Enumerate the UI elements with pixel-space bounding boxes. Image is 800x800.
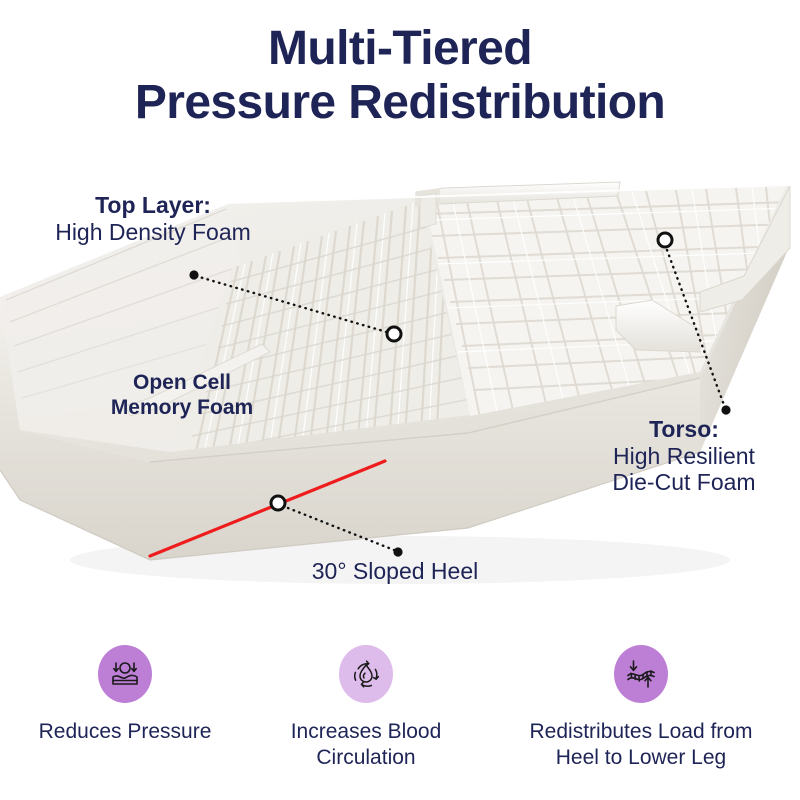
overlay-label-memory-foam: Open Cell Memory Foam	[92, 370, 272, 420]
feature-increases-blood-circulation: Increases Blood Circulation	[250, 645, 482, 772]
callout-torso-title: Torso:	[572, 416, 796, 443]
blood-circulation-icon-circle	[339, 645, 393, 703]
mattress-right-face	[700, 185, 790, 452]
title-line-1: Multi-Tiered	[0, 22, 800, 76]
right-rail	[700, 186, 790, 312]
title-line-2: Pressure Redistribution	[0, 76, 800, 130]
callout-top-layer-title: Top Layer:	[8, 192, 298, 219]
overlay-label-line-2: Memory Foam	[111, 396, 253, 419]
leader-heel	[271, 496, 403, 557]
feature-2-line-2: Circulation	[316, 746, 415, 769]
feature-1-line-1: Reduces Pressure	[39, 720, 212, 743]
pressure-reduction-icon	[108, 657, 142, 691]
callout-heel: 30° Sloped Heel	[270, 558, 520, 585]
feature-row: Reduces Pressure Increases Blood	[0, 645, 800, 772]
feature-3-line-2: Heel to Lower Leg	[556, 746, 726, 769]
callout-torso-subtitle-2: Die-Cut Foam	[572, 469, 796, 496]
feature-3-line-1: Redistributes Load from	[530, 720, 753, 743]
back-rail	[416, 182, 620, 206]
feature-redistributes-load: Redistributes Load from Heel to Lower Le…	[482, 645, 800, 772]
feature-reduces-pressure: Reduces Pressure	[0, 645, 250, 745]
load-redistribution-icon-circle	[614, 645, 668, 703]
overlay-label-line-1: Open Cell	[133, 371, 231, 394]
heel-slope-indicator-line	[150, 461, 385, 556]
feature-caption-reduces-pressure: Reduces Pressure	[39, 719, 212, 745]
feature-caption-increases-blood-circulation: Increases Blood Circulation	[291, 719, 442, 772]
leader-top-layer	[189, 270, 401, 341]
callout-top-layer-subtitle: High Density Foam	[8, 219, 298, 246]
mid-rail	[616, 300, 700, 352]
page-title: Multi-Tiered Pressure Redistribution	[0, 22, 800, 130]
callout-torso: Torso: High Resilient Die-Cut Foam	[572, 416, 796, 496]
pressure-reduction-icon-circle	[98, 645, 152, 703]
callout-heel-label: 30° Sloped Heel	[270, 558, 520, 585]
feature-2-line-1: Increases Blood	[291, 720, 442, 743]
load-redistribution-icon	[624, 657, 658, 691]
feature-caption-redistributes-load: Redistributes Load from Heel to Lower Le…	[530, 719, 753, 772]
callout-torso-subtitle-1: High Resilient	[572, 443, 796, 470]
blood-circulation-icon	[349, 657, 383, 691]
leader-torso	[658, 233, 731, 415]
callout-top-layer: Top Layer: High Density Foam	[8, 192, 298, 245]
die-cut-foam-zone	[410, 180, 800, 430]
